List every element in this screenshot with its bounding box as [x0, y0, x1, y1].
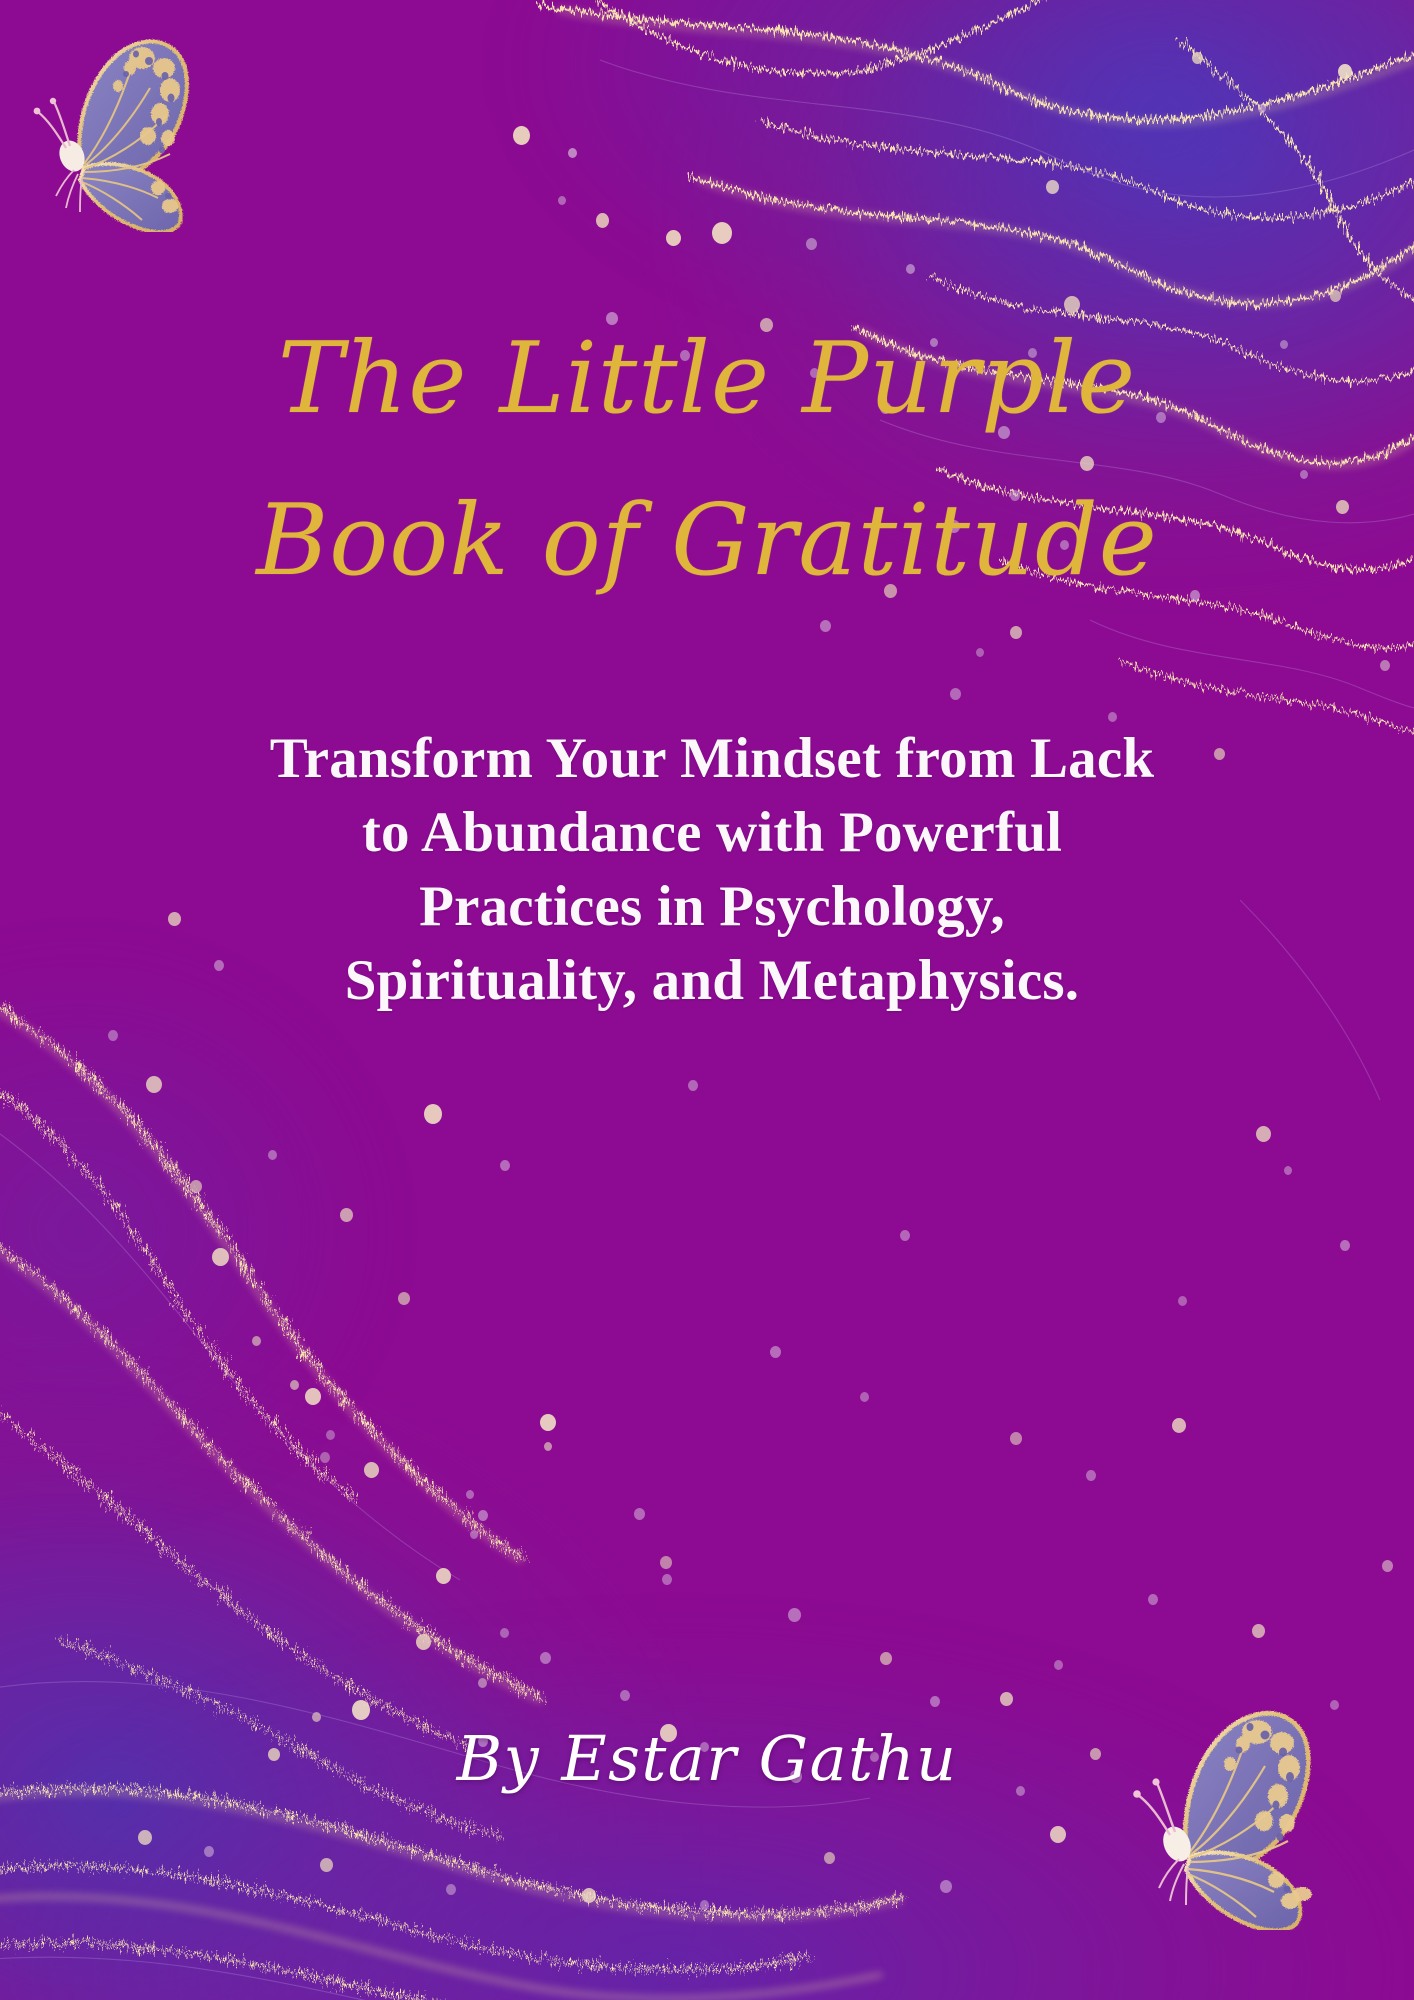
cover-title-line-1: The Little Purple	[0, 330, 1414, 428]
author-credit: By Estar Gathu	[0, 1722, 1414, 1795]
cover-title-line-2: Book of Gratitude	[0, 492, 1414, 590]
subtitle-line: Transform Your Mindset from Lack	[160, 722, 1264, 796]
subtitle-line: to Abundance with Powerful	[160, 796, 1264, 870]
cover-subtitle: Transform Your Mindset from Lack to Abun…	[160, 722, 1264, 1018]
book-cover: The Little Purple Book of Gratitude Tran…	[0, 0, 1414, 2000]
subtitle-line: Practices in Psychology,	[160, 870, 1264, 944]
subtitle-line: Spirituality, and Metaphysics.	[160, 944, 1264, 1018]
